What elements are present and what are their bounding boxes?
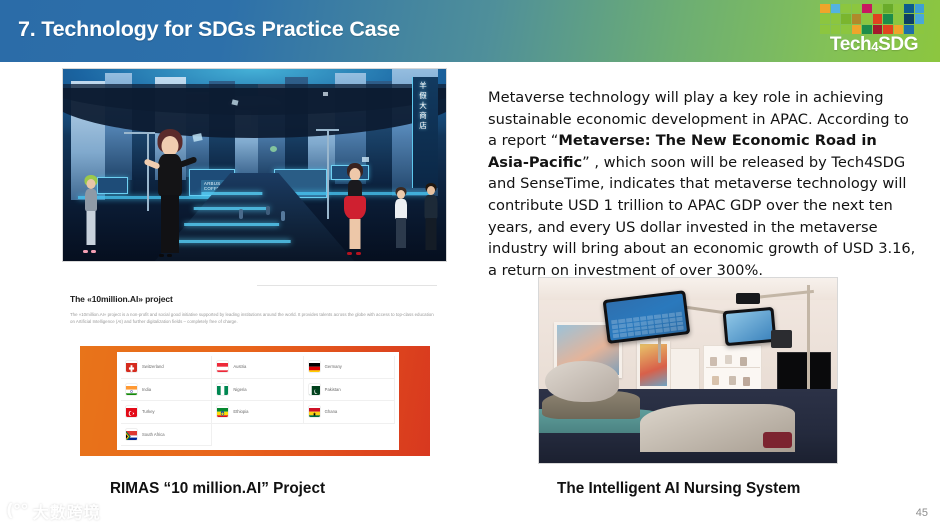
tech4sdg-logo: Tech4SDG bbox=[806, 2, 932, 60]
logo-grid-cell bbox=[873, 25, 883, 34]
bedside-object bbox=[763, 432, 793, 449]
light-pole bbox=[327, 130, 329, 218]
floating-orb bbox=[270, 146, 277, 152]
logo-grid-cell bbox=[894, 4, 904, 13]
country-name: Germany bbox=[325, 364, 342, 369]
logo-grid-cell bbox=[862, 4, 872, 13]
india-flag bbox=[125, 383, 138, 396]
ghana-flag bbox=[308, 405, 321, 418]
logo-grid-cell bbox=[915, 4, 925, 13]
logo-text-sdg: SDG bbox=[878, 34, 918, 55]
logo-grid-cell bbox=[862, 25, 872, 34]
country-cell[interactable]: Ghana bbox=[304, 401, 395, 424]
nursing-system-image bbox=[538, 277, 838, 464]
country-name: Ghana bbox=[325, 409, 338, 414]
watermark-logo-icon: (°° bbox=[6, 501, 28, 521]
country-name: South Africa bbox=[142, 432, 165, 437]
austria-flag bbox=[216, 360, 229, 373]
logo-text-tech: Tech bbox=[830, 34, 871, 55]
pakistan-flag bbox=[308, 383, 321, 396]
logo-grid-cell bbox=[894, 14, 904, 23]
road-chevron bbox=[184, 223, 280, 226]
ethiopia-flag bbox=[216, 405, 229, 418]
logo-grid-cell bbox=[883, 4, 893, 13]
logo-grid-cell bbox=[883, 14, 893, 23]
tablet-display bbox=[605, 293, 687, 341]
logo-grid-cell bbox=[820, 25, 830, 34]
nursing-scene bbox=[539, 278, 837, 463]
floating-panel bbox=[362, 157, 369, 162]
logo-grid-cell bbox=[904, 4, 914, 13]
empty-cell bbox=[304, 424, 395, 447]
logo-color-grid-icon bbox=[820, 4, 924, 34]
metaverse-image: ARBUSCOFFEE 羊假大商店 bbox=[62, 68, 447, 262]
avatar-figure bbox=[419, 183, 443, 255]
watermark-text: 大數跨境 bbox=[33, 499, 101, 523]
slide-header: 7. Technology for SDGs Practice Case Tec… bbox=[0, 0, 940, 62]
logo-grid-cell bbox=[841, 14, 851, 23]
logo-grid-cell bbox=[873, 14, 883, 23]
country-cell[interactable]: India bbox=[121, 379, 212, 402]
logo-grid-cell bbox=[904, 25, 914, 34]
on-screen-keyboard bbox=[611, 312, 684, 338]
slide: 7. Technology for SDGs Practice Case Tec… bbox=[0, 0, 940, 529]
divider bbox=[257, 285, 437, 286]
country-name: Pakistan bbox=[325, 387, 341, 392]
south-africa-flag bbox=[125, 428, 138, 441]
ten-million-ai-card-image: The «10million.AI» project The «10millio… bbox=[62, 270, 447, 465]
distant-figure bbox=[239, 209, 243, 219]
country-name: Nigeria bbox=[233, 387, 246, 392]
camera-module-icon bbox=[736, 293, 760, 304]
logo-grid-cell bbox=[831, 25, 841, 34]
logo-grid-cell bbox=[852, 4, 862, 13]
floating-panel bbox=[231, 99, 238, 105]
country-cell[interactable]: Germany bbox=[304, 356, 395, 379]
logo-grid-cell bbox=[820, 14, 830, 23]
logo-grid-cell bbox=[904, 14, 914, 23]
left-image-caption: RIMAS “10 million.AI” Project bbox=[110, 480, 325, 498]
logo-grid-cell bbox=[894, 25, 904, 34]
empty-cell bbox=[212, 424, 303, 447]
logo-grid-cell bbox=[883, 25, 893, 34]
ai-card-title: The «10million.AI» project bbox=[70, 294, 173, 304]
country-name: Ethiopia bbox=[233, 409, 248, 414]
avatar-figure bbox=[389, 187, 413, 253]
right-image-caption: The Intelligent AI Nursing System bbox=[557, 480, 800, 498]
country-name: Turkey bbox=[142, 409, 155, 414]
ai-card-description: The «10million.AI» project is a non-prof… bbox=[70, 311, 438, 325]
road-chevron bbox=[193, 207, 270, 210]
country-cell[interactable]: Turkey bbox=[121, 401, 212, 424]
logo-grid-cell bbox=[862, 14, 872, 23]
tablet-display bbox=[726, 311, 773, 344]
country-cell[interactable]: Pakistan bbox=[304, 379, 395, 402]
tablet-screen-small bbox=[722, 307, 776, 346]
floating-panel bbox=[323, 92, 328, 96]
logo-grid-cell bbox=[915, 14, 925, 23]
body-paragraph: Metaverse technology will play a key rol… bbox=[488, 87, 920, 281]
distant-figure bbox=[281, 211, 285, 221]
logo-text-four: 4 bbox=[871, 39, 878, 54]
avatar-figure bbox=[339, 163, 371, 255]
room-ceiling bbox=[539, 278, 837, 300]
country-cell[interactable]: Nigeria bbox=[212, 379, 303, 402]
patient-head bbox=[545, 361, 620, 402]
switzerland-flag bbox=[125, 360, 138, 373]
country-flag-grid: SwitzerlandAustriaGermanyIndiaNigeriaPak… bbox=[121, 356, 395, 446]
nigeria-flag bbox=[216, 383, 229, 396]
logo-grid-cell bbox=[852, 14, 862, 23]
logo-wordmark: Tech4SDG bbox=[818, 34, 930, 56]
light-pole-arm bbox=[316, 129, 339, 131]
logo-grid-cell bbox=[831, 4, 841, 13]
avatar-figure bbox=[78, 175, 104, 253]
turkey-flag bbox=[125, 405, 138, 418]
ai-card-country-panel: SwitzerlandAustriaGermanyIndiaNigeriaPak… bbox=[117, 352, 399, 450]
wall-picture bbox=[637, 341, 670, 389]
germany-flag bbox=[308, 360, 321, 373]
country-cell[interactable]: Austria bbox=[212, 356, 303, 379]
country-name: India bbox=[142, 387, 151, 392]
country-cell[interactable]: South Africa bbox=[121, 424, 212, 447]
country-cell[interactable]: Switzerland bbox=[121, 356, 212, 379]
country-name: Switzerland bbox=[142, 364, 164, 369]
distant-figure bbox=[266, 206, 270, 215]
logo-grid-cell bbox=[841, 25, 851, 34]
paragraph-part-2: ” , which soon will be released by Tech4… bbox=[488, 154, 915, 279]
country-cell[interactable]: Ethiopia bbox=[212, 401, 303, 424]
camera-module-icon bbox=[771, 330, 792, 349]
road-chevron bbox=[201, 192, 262, 195]
watermark: (°° 大數跨境 bbox=[6, 499, 101, 523]
logo-grid-cell bbox=[873, 4, 883, 13]
page-title: 7. Technology for SDGs Practice Case bbox=[18, 17, 400, 42]
logo-grid-cell bbox=[831, 14, 841, 23]
logo-grid-cell bbox=[852, 25, 862, 34]
country-name: Austria bbox=[233, 364, 246, 369]
logo-grid-cell bbox=[820, 4, 830, 13]
page-number: 45 bbox=[916, 507, 928, 519]
logo-grid-cell bbox=[915, 25, 925, 34]
banner-chinese-text: 羊假大商店 bbox=[412, 81, 435, 131]
logo-grid-cell bbox=[841, 4, 851, 13]
avatar-main bbox=[147, 129, 193, 257]
metaverse-scene: ARBUSCOFFEE 羊假大商店 bbox=[63, 69, 446, 261]
